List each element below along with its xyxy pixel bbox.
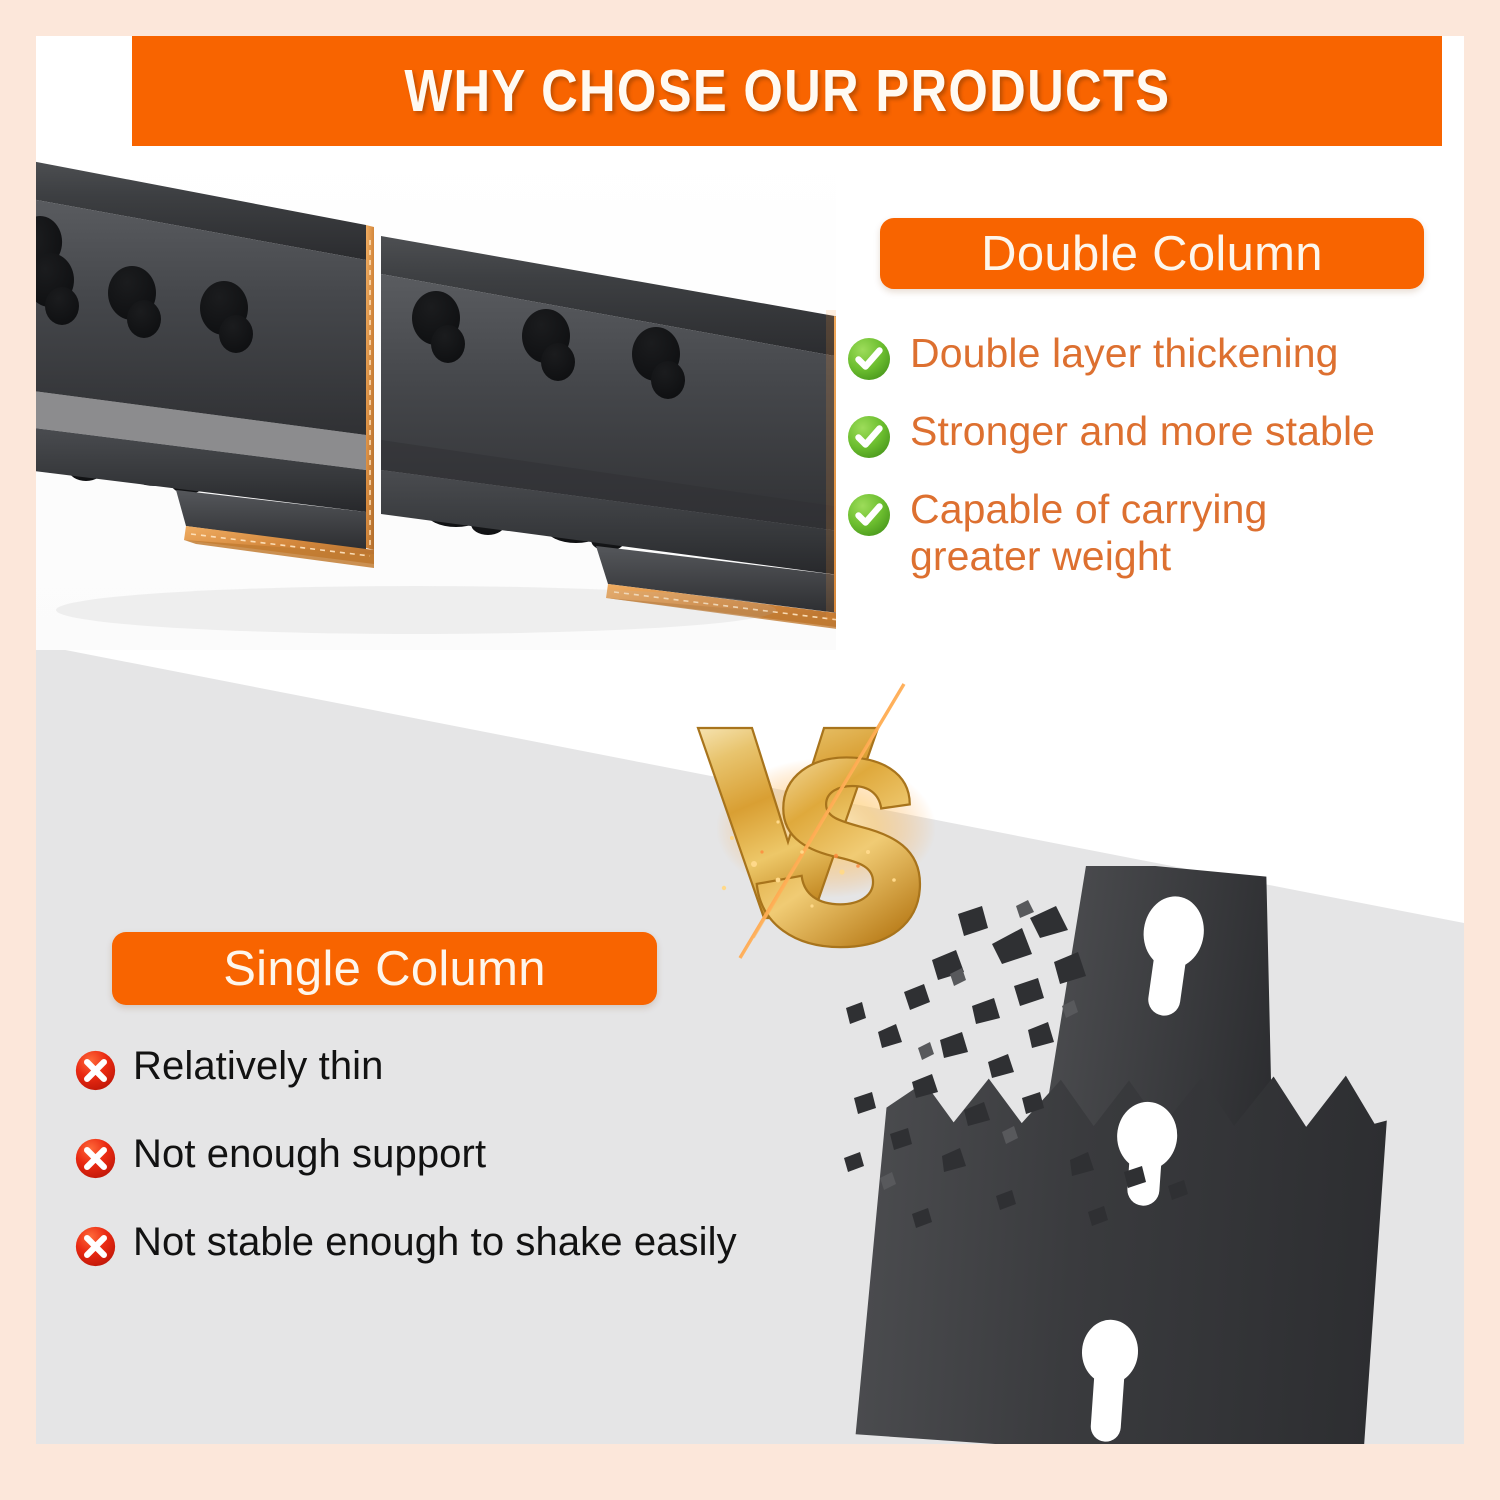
list-item-label: Not enough support <box>133 1132 486 1178</box>
list-item: Relatively thin <box>74 1044 894 1092</box>
single-column-drawback-list: Relatively thin Not enough support <box>74 1044 894 1308</box>
header-banner: WHY CHOSE OUR PRODUCTS <box>132 36 1442 146</box>
cross-circle-icon <box>74 1137 117 1180</box>
single-column-badge-label: Single Column <box>223 941 546 997</box>
double-column-benefit-list: Double layer thickening Stronger and mor… <box>846 330 1446 605</box>
check-circle-icon <box>846 492 892 538</box>
poster-canvas: Double Column <box>36 36 1464 1444</box>
list-item-label: Not stable enough to shake easily <box>133 1220 737 1266</box>
page-title: WHY CHOSE OUR PRODUCTS <box>404 57 1170 125</box>
check-circle-icon <box>846 414 892 460</box>
double-column-badge: Double Column <box>880 218 1424 289</box>
list-item: Not stable enough to shake easily <box>74 1220 894 1268</box>
list-item: Not enough support <box>74 1132 894 1180</box>
poster-root: Double Column <box>0 0 1500 1500</box>
double-column-badge-label: Double Column <box>981 226 1323 282</box>
list-item-label: Relatively thin <box>133 1044 384 1090</box>
list-item-label: Stronger and more stable <box>910 408 1375 455</box>
cross-circle-icon <box>74 1049 117 1092</box>
single-column-badge: Single Column <box>112 932 657 1005</box>
list-item: Stronger and more stable <box>846 408 1446 460</box>
cross-circle-icon <box>74 1225 117 1268</box>
list-item-label: Capable of carrying greater weight <box>910 486 1340 579</box>
check-circle-icon <box>846 336 892 382</box>
versus-emblem <box>636 666 1016 966</box>
double-column-product-photo <box>36 140 836 650</box>
list-item: Capable of carrying greater weight <box>846 486 1446 579</box>
list-item-label: Double layer thickening <box>910 330 1339 377</box>
list-item: Double layer thickening <box>846 330 1446 382</box>
